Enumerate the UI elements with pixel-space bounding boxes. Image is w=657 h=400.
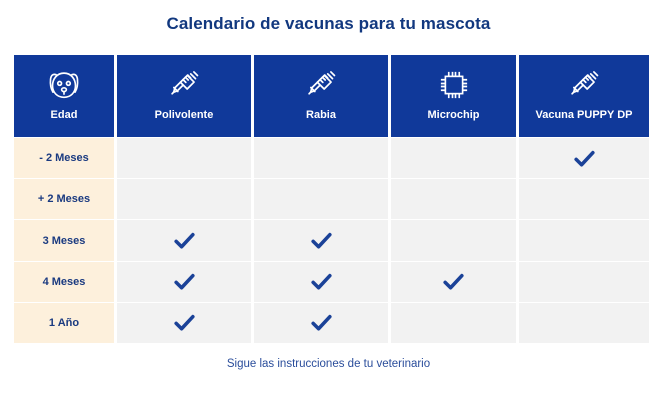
cell-vacuna-puppy-dp <box>519 138 649 178</box>
cell-polivolente <box>117 303 251 343</box>
table-header-cell-edad: Edad <box>14 55 114 137</box>
table-header-cell-microchip: Microchip <box>391 55 516 137</box>
vaccination-schedule-table: Edad Polivolente <box>14 55 643 343</box>
cell-polivolente <box>117 138 251 178</box>
table-header-label: Edad <box>51 109 78 122</box>
row-age-label: 4 Meses <box>14 262 114 302</box>
microchip-icon <box>436 64 472 106</box>
page-title: Calendario de vacunas para tu mascota <box>0 14 657 34</box>
cell-polivolente <box>117 220 251 260</box>
footnote-text: Sigue las instrucciones de tu veterinari… <box>0 358 657 370</box>
table-header-cell-polivolente: Polivolente <box>117 55 251 137</box>
cell-rabia <box>254 220 388 260</box>
cell-rabia <box>254 138 388 178</box>
cell-polivolente <box>117 262 251 302</box>
cell-microchip <box>391 138 516 178</box>
cell-microchip <box>391 179 516 219</box>
table-row: + 2 Meses <box>14 179 643 219</box>
row-age-label: + 2 Meses <box>14 179 114 219</box>
check-icon <box>572 146 597 171</box>
cell-vacuna-puppy-dp <box>519 303 649 343</box>
cell-vacuna-puppy-dp <box>519 179 649 219</box>
cell-microchip <box>391 220 516 260</box>
check-icon <box>309 228 334 253</box>
dog-face-icon <box>45 64 83 106</box>
table-header-label: Rabia <box>306 109 336 122</box>
check-icon <box>441 269 466 294</box>
check-icon <box>172 228 197 253</box>
cell-polivolente <box>117 179 251 219</box>
row-age-label: 3 Meses <box>14 220 114 260</box>
table-header-label: Microchip <box>428 109 480 122</box>
cell-rabia <box>254 262 388 302</box>
cell-rabia <box>254 303 388 343</box>
cell-microchip <box>391 303 516 343</box>
table-row: - 2 Meses <box>14 138 643 178</box>
table-header-cell-vacuna-puppy-dp: Vacuna PUPPY DP <box>519 55 649 137</box>
table-body: - 2 Meses + 2 Meses 3 Meses <box>14 138 643 343</box>
syringe-icon <box>165 64 203 106</box>
table-header-label: Polivolente <box>155 109 214 122</box>
table-row: 1 Año <box>14 303 643 343</box>
table-row: 4 Meses <box>14 262 643 302</box>
syringe-icon <box>302 64 340 106</box>
check-icon <box>172 310 197 335</box>
table-header-label: Vacuna PUPPY DP <box>535 109 632 122</box>
table-row: 3 Meses <box>14 220 643 260</box>
cell-microchip <box>391 262 516 302</box>
check-icon <box>309 269 334 294</box>
cell-rabia <box>254 179 388 219</box>
row-age-label: 1 Año <box>14 303 114 343</box>
table-header-cell-rabia: Rabia <box>254 55 388 137</box>
row-age-label: - 2 Meses <box>14 138 114 178</box>
cell-vacuna-puppy-dp <box>519 262 649 302</box>
cell-vacuna-puppy-dp <box>519 220 649 260</box>
check-icon <box>309 310 334 335</box>
syringe-icon <box>565 64 603 106</box>
table-header-row: Edad Polivolente <box>14 55 643 137</box>
check-icon <box>172 269 197 294</box>
vaccination-schedule-page: Calendario de vacunas para tu mascota <box>0 0 657 400</box>
